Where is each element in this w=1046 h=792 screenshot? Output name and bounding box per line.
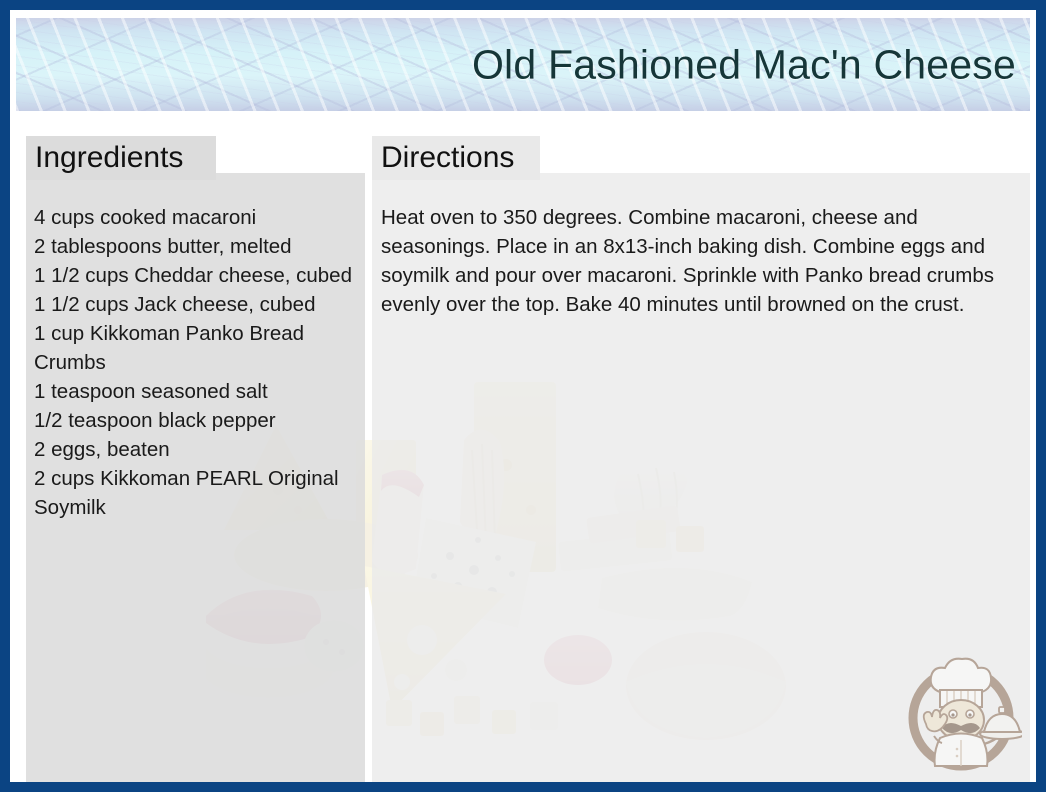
directions-tab-label: Directions [381, 143, 514, 173]
ingredients-tab: Ingredients [26, 136, 216, 180]
ingredients-list: 4 cups cooked macaroni 2 tablespoons but… [34, 203, 362, 522]
list-item: 2 tablespoons butter, melted [34, 232, 362, 261]
list-item: 1 teaspoon seasoned salt [34, 377, 362, 406]
list-item: 1 1/2 cups Jack cheese, cubed [34, 290, 362, 319]
list-item: 2 cups Kikkoman PEARL Original Soymilk [34, 464, 362, 522]
list-item: 4 cups cooked macaroni [34, 203, 362, 232]
header-banner: Old Fashioned Mac'n Cheese [16, 18, 1030, 111]
directions-body: Heat oven to 350 degrees. Combine macaro… [381, 203, 1029, 319]
recipe-card: Old Fashioned Mac'n Cheese [0, 0, 1046, 792]
list-item: 1 1/2 cups Cheddar cheese, cubed [34, 261, 362, 290]
ingredients-tab-label: Ingredients [35, 143, 183, 173]
directions-tab: Directions [372, 136, 540, 180]
list-item: 1/2 teaspoon black pepper [34, 406, 362, 435]
list-item: 1 cup Kikkoman Panko Bread Crumbs [34, 319, 362, 377]
list-item: 2 eggs, beaten [34, 435, 362, 464]
page-title: Old Fashioned Mac'n Cheese [472, 41, 1016, 88]
chef-logo-icon [900, 652, 1022, 774]
